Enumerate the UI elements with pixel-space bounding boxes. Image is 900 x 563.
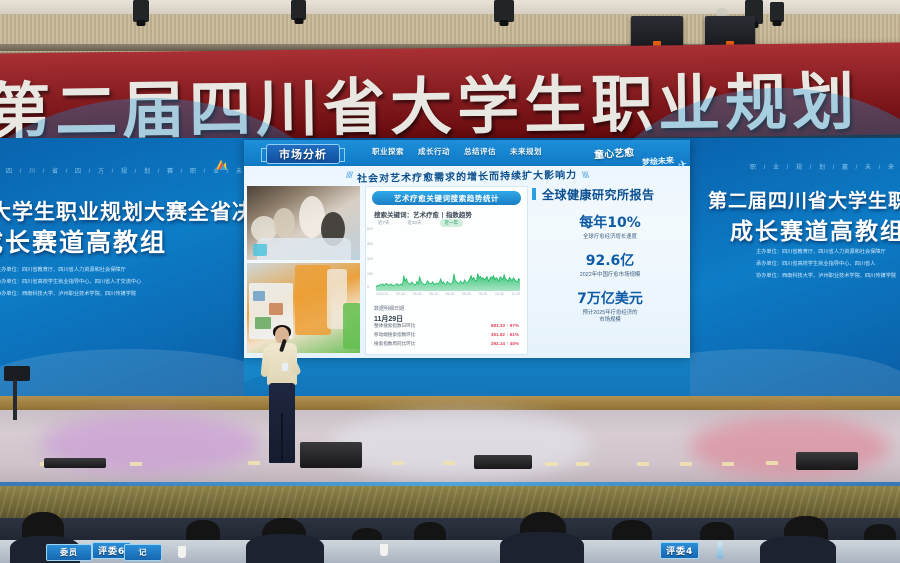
floor-footlight (392, 461, 404, 465)
tab-summary-evaluation[interactable]: 总结评估 (464, 146, 496, 157)
floor-footlight (248, 461, 260, 465)
nameplate-judge-4-label: 评委4 (666, 544, 693, 557)
camera-icon (4, 366, 30, 381)
nameplate-partial-committee: 委员 (46, 544, 92, 561)
chart-xtick: 10-30 (495, 292, 504, 296)
stat-value: 每年10% (534, 212, 686, 232)
tab-growth-action[interactable]: 成长行动 (418, 146, 450, 157)
led-right-title-line2: 成长赛道高教组 (730, 212, 900, 246)
floor-footlight (545, 462, 558, 466)
tab-market-analysis[interactable]: 市场分析 (266, 144, 340, 164)
led-left-org-line: 主办单位：四川省教育厅、四川省人力资源和社会保障厅 (0, 266, 126, 275)
paper-cup (380, 544, 388, 556)
floor-footlight (576, 462, 589, 466)
nameplate-judge-4: 评委4 (660, 542, 699, 559)
camera-tripod (13, 380, 17, 420)
led-left-wave (0, 349, 244, 403)
chart-xtick: 09-15 (479, 292, 488, 296)
led-left-dots: 四 / 川 / 省 / 四 / 方 / 规 / 划 / 赛 / 职 / 业 / … (6, 166, 244, 175)
presentation-slide: 市场分析 职业探索 成长行动 总结评估 未来规划 童心艺愈 梦绘未来 ✈ ///… (244, 140, 690, 358)
stat-item: 7万亿美元 预计2025年疗愈经济的 市场规模 (534, 288, 686, 324)
floor-footlight (766, 461, 778, 465)
nameplate-partial-recorder: 记 (124, 544, 162, 561)
paper-cup (178, 546, 186, 558)
row-value: 583.33 ↑ 97% (491, 323, 519, 329)
led-right-panel: 职 / 业 / 规 / 划 / 赢 / 未 / 来 规 / 划 / 未 / 来 … (690, 138, 900, 403)
stage-monitor-speaker (474, 455, 532, 469)
stage-light-icon (291, 0, 306, 20)
stage-light-icon (770, 2, 784, 22)
led-right-dots: 职 / 业 / 规 / 划 / 赢 / 未 / 来 规 / 划 / 未 / 来 … (750, 162, 900, 171)
chart-ytick: 300 (367, 257, 373, 261)
chart-footer: 数据明细日期 11月29日 (374, 305, 404, 324)
led-left-panel: 四 / 川 / 省 / 四 / 方 / 规 / 划 / 赛 / 职 / 业 / … (0, 138, 244, 403)
floor-footlight (680, 462, 692, 466)
led-wall: 四 / 川 / 省 / 四 / 方 / 规 / 划 / 赛 / 职 / 业 / … (0, 138, 900, 403)
chart-xtick: 03-25 (413, 292, 422, 296)
stats-panel: 全球健康研究所报告 每年10% 全球疗愈经济增长速度 92.6亿 2022年中国… (534, 186, 686, 353)
slide-nav-bar: 市场分析 职业探索 成长行动 总结评估 未来规划 童心艺愈 梦绘未来 ✈ (244, 140, 690, 166)
stat-note: 全球疗愈经济增长速度 (534, 234, 686, 241)
stat-item: 92.6亿 2022年中国疗愈市场规模 (534, 250, 686, 279)
chart-legend: 近7天 近30天 近一年 (378, 219, 463, 227)
nameplate-partial-committee-label: 委员 (60, 547, 78, 558)
legend-30d[interactable]: 近30天 (408, 220, 422, 226)
slide-subtitle: 社会对艺术疗愈需求的增长而持续扩大影响力 (357, 166, 577, 185)
slash-decor-right: \\\\ (582, 170, 588, 180)
floor-footlight (130, 462, 142, 466)
stat-item: 每年10% 全球疗愈经济增长速度 (534, 212, 686, 241)
floor-footlight (722, 462, 734, 466)
audience-shoulders (246, 534, 324, 563)
led-right-org-line: 主办单位：四川省教育厅、四川省人力资源和社会保障厅 (756, 248, 886, 257)
chart-ytick: 450 (367, 242, 373, 246)
chart-subtitle: 搜索关键词：艺术疗愈 | 指数趋势 (374, 209, 472, 219)
nameplate-judge-6-label: 评委6 (98, 544, 125, 557)
stat-note: 2022年中国疗愈市场规模 (534, 272, 686, 279)
slide-tabs: 职业探索 成长行动 总结评估 未来规划 (372, 146, 542, 157)
chart-xtick: 06-20 (446, 292, 455, 296)
row-label: 移动端搜索指数环比 (374, 332, 415, 338)
stats-panel-heading: 全球健康研究所报告 (534, 186, 686, 203)
chart-detail-rows: 整体搜索指数日环比 583.33 ↑ 97% 移动端搜索指数环比 351.62 … (374, 323, 519, 350)
presenter (262, 327, 302, 470)
stage-monitor-speaker (300, 442, 362, 468)
search-trend-chart-card: 艺术疗愈关键词搜索趋势统计 搜索关键词：艺术疗愈 | 指数趋势 近7天 近30天… (365, 186, 528, 355)
stat-note: 预计2025年疗愈经济的 市场规模 (534, 310, 686, 324)
chart-ytick: 150 (367, 272, 373, 276)
chart-xtick: 08-05 (462, 292, 471, 296)
legend-1y-active[interactable]: 近一年 (440, 219, 464, 227)
chart-title: 艺术疗愈关键词搜索趋势统计 (394, 193, 499, 204)
tab-career-exploration[interactable]: 职业探索 (372, 146, 404, 157)
stage-floor (0, 410, 900, 488)
chart-xtick: 05-10 (429, 292, 438, 296)
floor-footlight (637, 462, 649, 466)
water-bottle (717, 542, 723, 559)
table-row: 整体搜索指数日环比 583.33 ↑ 97% (374, 323, 519, 329)
row-value: 351.62 ↑ 61% (491, 332, 519, 338)
slide-photo-classroom (247, 186, 360, 260)
led-left-org-line: 协办单位：西南科技大学、泸州职业技术学院、四川传媒学院 (0, 290, 136, 299)
row-label: 整体搜索指数日环比 (374, 323, 415, 329)
row-value: 292.14 ↑ 45% (491, 341, 519, 347)
chart-xtick: 2024-01 (376, 292, 388, 296)
presenter-badge (282, 363, 288, 371)
venue-photo: 第二届四川省大学生职业规划 四 / 川 / 省 / 四 / 方 / 规 / 划 … (0, 0, 900, 563)
led-left-title-line1: 省大学生职业规划大赛全省决赛 (0, 196, 244, 226)
slide-brand-primary: 童心艺愈 (594, 144, 635, 162)
stat-value: 92.6亿 (534, 250, 686, 270)
chart-footer-title: 数据明细日期 (374, 305, 404, 312)
table-row: 搜索指数周同比环比 292.14 ↑ 45% (374, 341, 519, 347)
audience-shoulders (500, 532, 584, 563)
chart-xtick: 02-15 (396, 292, 405, 296)
nameplate-partial-recorder-label: 记 (139, 547, 148, 558)
floor-footlight (443, 461, 455, 465)
stage-light-icon (494, 0, 514, 22)
row-label: 搜索指数周同比环比 (374, 341, 415, 347)
led-right-wave (690, 349, 900, 403)
led-right-title-line1: 第二届四川省大学生职业规划大 (708, 186, 900, 213)
competition-logo-icon (213, 158, 229, 174)
table-row: 移动端搜索指数环比 351.62 ↑ 61% (374, 332, 519, 338)
camera-rig (0, 360, 34, 420)
audience-shoulders (760, 536, 836, 563)
stage-monitor-speaker (796, 452, 858, 470)
tab-market-analysis-label: 市场分析 (279, 146, 327, 162)
led-left-title-line2: 成长赛道高教组 (0, 223, 167, 259)
tab-future-plan[interactable]: 未来规划 (510, 146, 542, 157)
legend-7d[interactable]: 近7天 (378, 220, 390, 226)
stat-value: 7万亿美元 (534, 288, 686, 308)
chart-ytick: 600 (367, 227, 373, 231)
stage-monitor-speaker (44, 458, 106, 468)
chart-xtick: 11-29 (512, 292, 520, 296)
stage-light-icon (133, 0, 149, 22)
led-left-org-line: 承办单位：四川省高校学生就业指导中心、四川省人才交流中心 (0, 278, 141, 287)
presenter-skirt-slit (281, 413, 283, 461)
slash-decor-left: //// (346, 170, 352, 180)
led-right-org-line: 协办单位：西南科技大学、泸州职业技术学院、四川传媒学院 (756, 272, 896, 281)
chart-title-banner: 艺术疗愈关键词搜索趋势统计 (372, 191, 521, 205)
chart-svg (376, 229, 520, 291)
chart-plot-area: 600 450 300 150 0 (376, 229, 520, 291)
led-right-org-line: 承办单位：四川省高校学生就业指导中心、四川省人 (756, 260, 875, 269)
chart-xaxis: 2024-01 02-15 03-25 05-10 06-20 08-05 09… (376, 292, 520, 296)
slide-subtitle-row: //// 社会对艺术疗愈需求的增长而持续扩大影响力 \\\\ (244, 167, 690, 183)
chart-ytick: 0 (367, 285, 369, 289)
